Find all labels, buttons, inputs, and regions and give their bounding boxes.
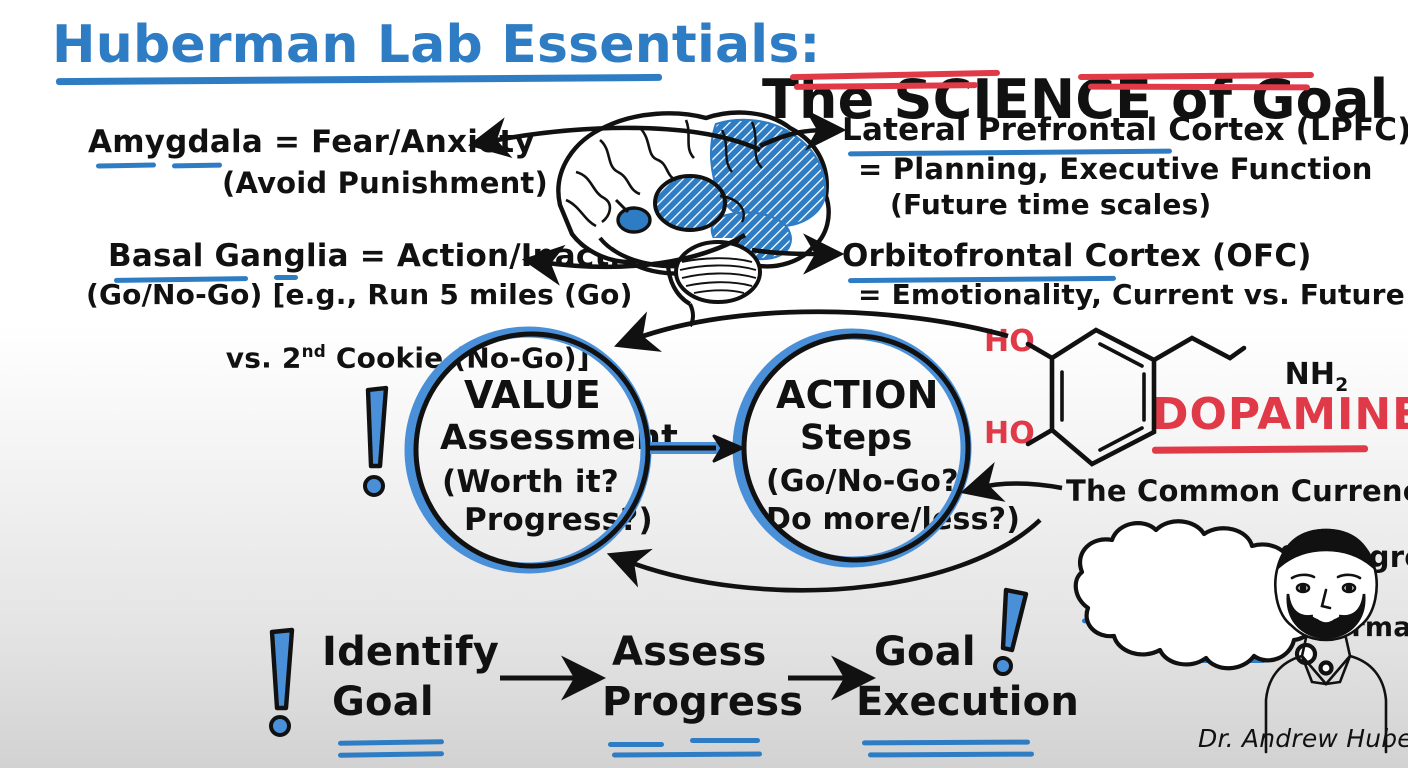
molecule-ho-bottom-label: HO [984,418,1035,449]
flow-step2-underline-1 [608,742,664,747]
arrow-currency-to-action [978,484,1062,489]
currency-line2-post: & Progress [1267,540,1408,574]
arrow-ofc-to-value [632,312,1008,340]
bg-line3-pre: vs. 2 [226,341,302,374]
thought-bubble-line2: is crucial! [1152,616,1303,644]
signature-label: Dr. Andrew Huberman [1198,726,1408,752]
bubble-key-underline [1082,618,1124,624]
title-underline-goalsetting-2 [1088,84,1310,91]
flow-step3-underline-1 [862,740,1030,746]
action-circle-line4: Do more/less?) [766,504,1020,535]
currency-note-line1: The Common Currency [1066,476,1408,506]
bubble-crucial-underline-1 [1184,648,1266,653]
currency-value-underline [1124,545,1200,551]
amygdala-label-line1: Amygdala = Fear/Anxiety [88,126,535,158]
flow-step1-underline-2 [338,751,444,757]
basal-ganglia-label-line1: Basal Ganglia = Action/Inaction [108,240,664,272]
amygdala-label-line2: (Avoid Punishment) [222,168,548,198]
value-circle-line3: (Worth it? [442,466,619,498]
flow-step2-underline-2 [690,738,760,743]
molecule-ho-top-label: HO [984,326,1035,357]
ofc-label-line2: = Emotionality, Current vs. Future State [858,280,1408,309]
flow-step1-underline-1 [338,739,444,745]
exclamation-icon-bottom-right [995,590,1026,674]
lpfc-label-line3: (Future time scales) [890,190,1211,219]
dopamine-label: DOPAMINE [1152,392,1408,438]
flow-step1-line1: Identify [322,632,499,674]
nh2-pre: NH [1285,357,1336,392]
action-circle-line2: Steps [800,420,913,456]
lpfc-label-line1: Lateral Prefrontal Cortex (LPFC) [842,114,1408,146]
bg-line3-sup: nd [302,341,326,361]
amygdala-underline-2 [172,163,222,169]
flow-step3-line2: Execution [856,682,1079,724]
flow-step2-underline-3 [612,751,762,757]
value-circle-line4: Progress?) [464,504,653,536]
flow-step3-line1: Goal [874,632,976,674]
action-circle-line3: (Go/No-Go? [766,466,959,497]
flow-step2-line2: Progress [602,682,803,724]
amygdala-underline-1 [96,162,156,168]
title-underline-blue [56,74,662,85]
basal-ganglia-label-line2: (Go/No-Go) [e.g., Run 5 miles (Go) [86,280,633,309]
exclamation-icon-left [365,388,386,495]
dopamine-underline [1152,445,1368,454]
flow-step1-line2: Goal [332,682,434,724]
lpfc-label-line2: = Planning, Executive Function [858,154,1373,184]
bubble-crucial-underline-2 [1186,658,1266,663]
action-circle-line1: ACTION [776,376,939,416]
value-circle-line1: VALUE [464,376,601,416]
arrow-to-ofc [752,250,826,254]
exclamation-icon-bottom-left [271,630,292,735]
value-circle-line2: Assessment [440,420,678,456]
bg-line3-post: Cookie (No-Go)] [326,341,590,374]
flow-step2-line1: Assess [612,632,767,674]
whiteboard-canvas: Huberman Lab Essentials: The SCIENCE of … [0,0,1408,768]
flow-step3-underline-2 [868,752,1034,758]
ofc-label-line1: Orbitofrontal Cortex (OFC) [842,240,1312,272]
